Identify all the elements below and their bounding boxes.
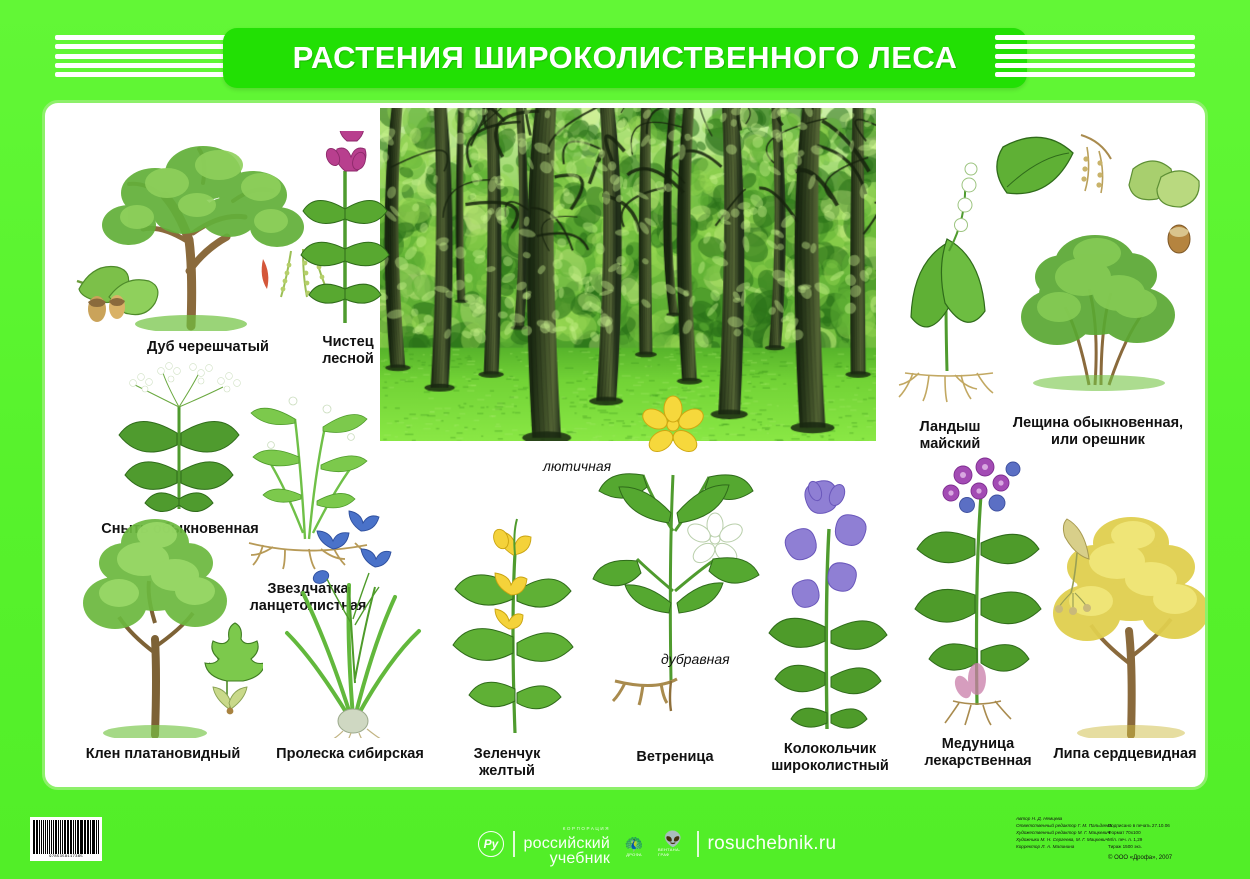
- maple-illustration: [63, 503, 263, 743]
- drofa-label: ДРОФА: [626, 852, 642, 857]
- ventana-graf-logo: 👽 ВЕНТАНА-ГРАФ: [658, 831, 688, 857]
- lily-rhizome: [899, 373, 993, 402]
- plant-label-bellflower: Колокольчик широколистный: [771, 741, 889, 774]
- title-banner: РАСТЕНИЯ ШИРОКОЛИСТВЕННОГО ЛЕСА: [55, 28, 1195, 88]
- plant-figure-bellflower: Колокольчик широколистный: [745, 473, 915, 774]
- site-divider: [697, 831, 699, 857]
- ventana-butterfly-icon: 👽: [664, 833, 683, 847]
- hedgenettle-illustration: [283, 131, 413, 331]
- publisher-name-line2: учебник: [550, 850, 610, 867]
- hazel-illustration: [983, 117, 1208, 412]
- yellow-archangel-illustration: [427, 493, 587, 743]
- hazel-shrub: [1021, 235, 1175, 391]
- archangel-yellow-flowers: [491, 527, 531, 629]
- hedgenettle-svg: [283, 131, 413, 326]
- plant-label-maple: Клен платановидный: [86, 746, 241, 763]
- bellflower-illustration: [745, 473, 915, 738]
- linden-svg: [1035, 503, 1208, 738]
- squill-svg: [255, 473, 445, 738]
- plant-label-anemone: Ветреница: [636, 749, 713, 766]
- yellow-archangel-svg: [427, 493, 587, 738]
- brand-divider: [513, 831, 515, 857]
- poster-root: РАСТЕНИЯ ШИРОКОЛИСТВЕННОГО ЛЕСА: [0, 0, 1250, 879]
- anemone-yellow-flower: [639, 396, 706, 456]
- bellflower-svg: [745, 473, 915, 733]
- plant-figure-yellow-archangel: Зеленчук желтый: [427, 493, 587, 779]
- maple-svg: [63, 503, 263, 738]
- hazel-svg: [983, 117, 1208, 407]
- linden-illustration: [1035, 503, 1208, 743]
- anemone-rhizome: [613, 679, 677, 705]
- squill-flowers: [311, 511, 391, 586]
- plant-label-yellow-archangel: Зеленчук желтый: [474, 746, 541, 779]
- plant-figure-hedgenettle: Чистец лесной: [283, 131, 413, 367]
- lungwort-roots: [945, 701, 1011, 725]
- publisher-name: КОРПОРАЦИЯ российский учебник: [524, 821, 611, 866]
- maple-samara: [213, 687, 247, 714]
- annotation-anemone-ranunculoides: лютичная: [543, 458, 611, 474]
- plant-figure-hazel: Лещина обыкновенная, или орешник: [983, 117, 1208, 448]
- imprint-print-info: Подписано в печать 27.10.06 Формат 70х10…: [1108, 815, 1172, 869]
- barcode: 9785358117365: [30, 817, 102, 861]
- squill-illustration: [255, 473, 445, 743]
- imprint-credits: Автор Н. Д. Немцева Ответственный редакт…: [1016, 815, 1112, 850]
- stripe-decoration-right: [995, 32, 1195, 80]
- drofa-logo: 🦚 ДРОФА: [619, 831, 649, 857]
- plant-label-lungwort: Медуница лекарственная: [924, 736, 1031, 769]
- anemone-svg: [585, 381, 765, 741]
- content-panel: Дуб черешчатый: [42, 100, 1208, 790]
- hazel-nut-husks: [1129, 161, 1199, 253]
- page-title: РАСТЕНИЯ ШИРОКОЛИСТВЕННОГО ЛЕСА: [293, 40, 958, 76]
- annotation-anemone-nemorosa: дубравная: [661, 651, 730, 667]
- publisher-website[interactable]: rosuchebnik.ru: [708, 833, 837, 855]
- plant-figure-maple: Клен платановидный: [63, 503, 263, 763]
- plant-figure-anemone: Ветреница: [585, 381, 765, 766]
- ventana-label: ВЕНТАНА-ГРАФ: [658, 847, 688, 857]
- rossiyskiy-uchebnik-mark: Ру: [478, 831, 504, 857]
- barcode-number: 9785358117365: [33, 854, 99, 860]
- drofa-bird-icon: 🦚: [625, 838, 644, 852]
- copyright-line: © ООО «Дрофа», 2007: [1108, 855, 1172, 862]
- plant-figure-linden: Липа сердцевидная: [1035, 503, 1208, 763]
- barcode-bars: [33, 820, 99, 854]
- oak-acorn-branch: [77, 266, 158, 322]
- footer: 9785358117365 Ру КОРПОРАЦИЯ российский у…: [0, 795, 1250, 879]
- plant-figure-squill: Пролеска сибирская: [255, 473, 445, 763]
- plant-label-squill: Пролеска сибирская: [276, 746, 424, 763]
- publisher-superscript: КОРПОРАЦИЯ: [524, 821, 611, 836]
- title-plate: РАСТЕНИЯ ШИРОКОЛИСТВЕННОГО ЛЕСА: [223, 28, 1027, 88]
- anemone-illustration: [585, 381, 765, 746]
- plant-label-linden: Липа сердцевидная: [1053, 746, 1196, 763]
- squill-bulb: [329, 709, 381, 738]
- publisher-brand: Ру КОРПОРАЦИЯ российский учебник 🦚 ДРОФА…: [478, 821, 836, 866]
- print-details: Подписано в печать 27.10.06 Формат 70х10…: [1108, 823, 1170, 849]
